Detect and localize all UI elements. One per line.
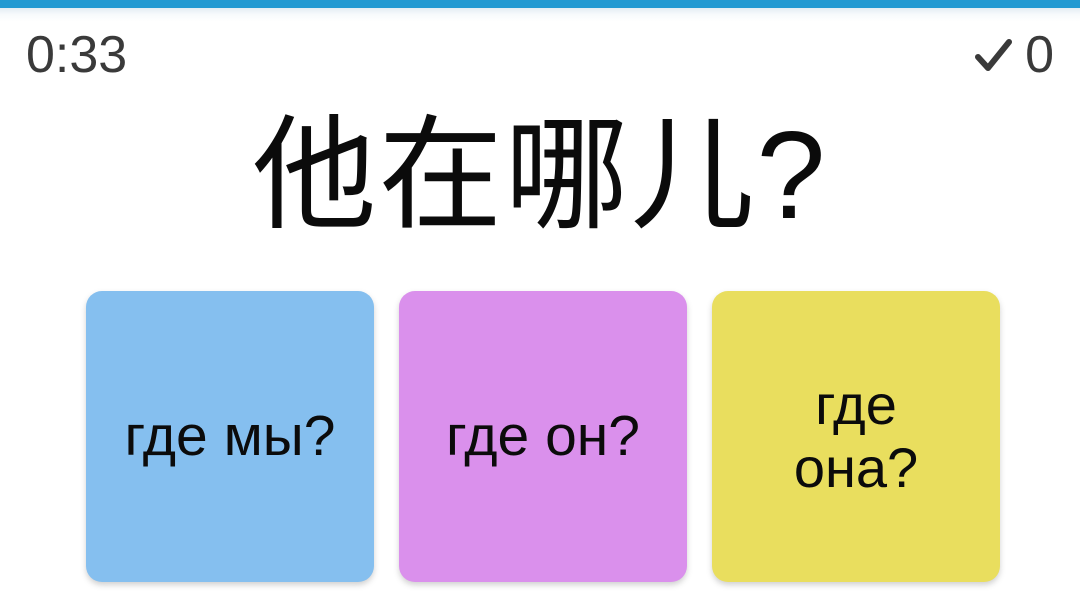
answer-card-2-label: где он? (446, 406, 640, 468)
top-accent-bar (0, 0, 1080, 8)
score-display: 0 (973, 29, 1054, 81)
check-icon (973, 35, 1013, 75)
score-value: 0 (1025, 29, 1054, 81)
status-bar: 0:33 0 (0, 20, 1080, 90)
quiz-screen: 0:33 0 他在哪儿? где мы? где он? где она? (0, 0, 1080, 615)
question-prompt: 他在哪儿? (0, 96, 1080, 256)
answer-options: где мы? где он? где она? (86, 291, 1000, 582)
answer-card-3-label: где она? (756, 374, 956, 499)
timer-display: 0:33 (26, 29, 127, 81)
answer-card-1[interactable]: где мы? (86, 291, 374, 582)
answer-card-3[interactable]: где она? (712, 291, 1000, 582)
answer-card-2[interactable]: где он? (399, 291, 687, 582)
answer-card-1-label: где мы? (125, 406, 336, 468)
